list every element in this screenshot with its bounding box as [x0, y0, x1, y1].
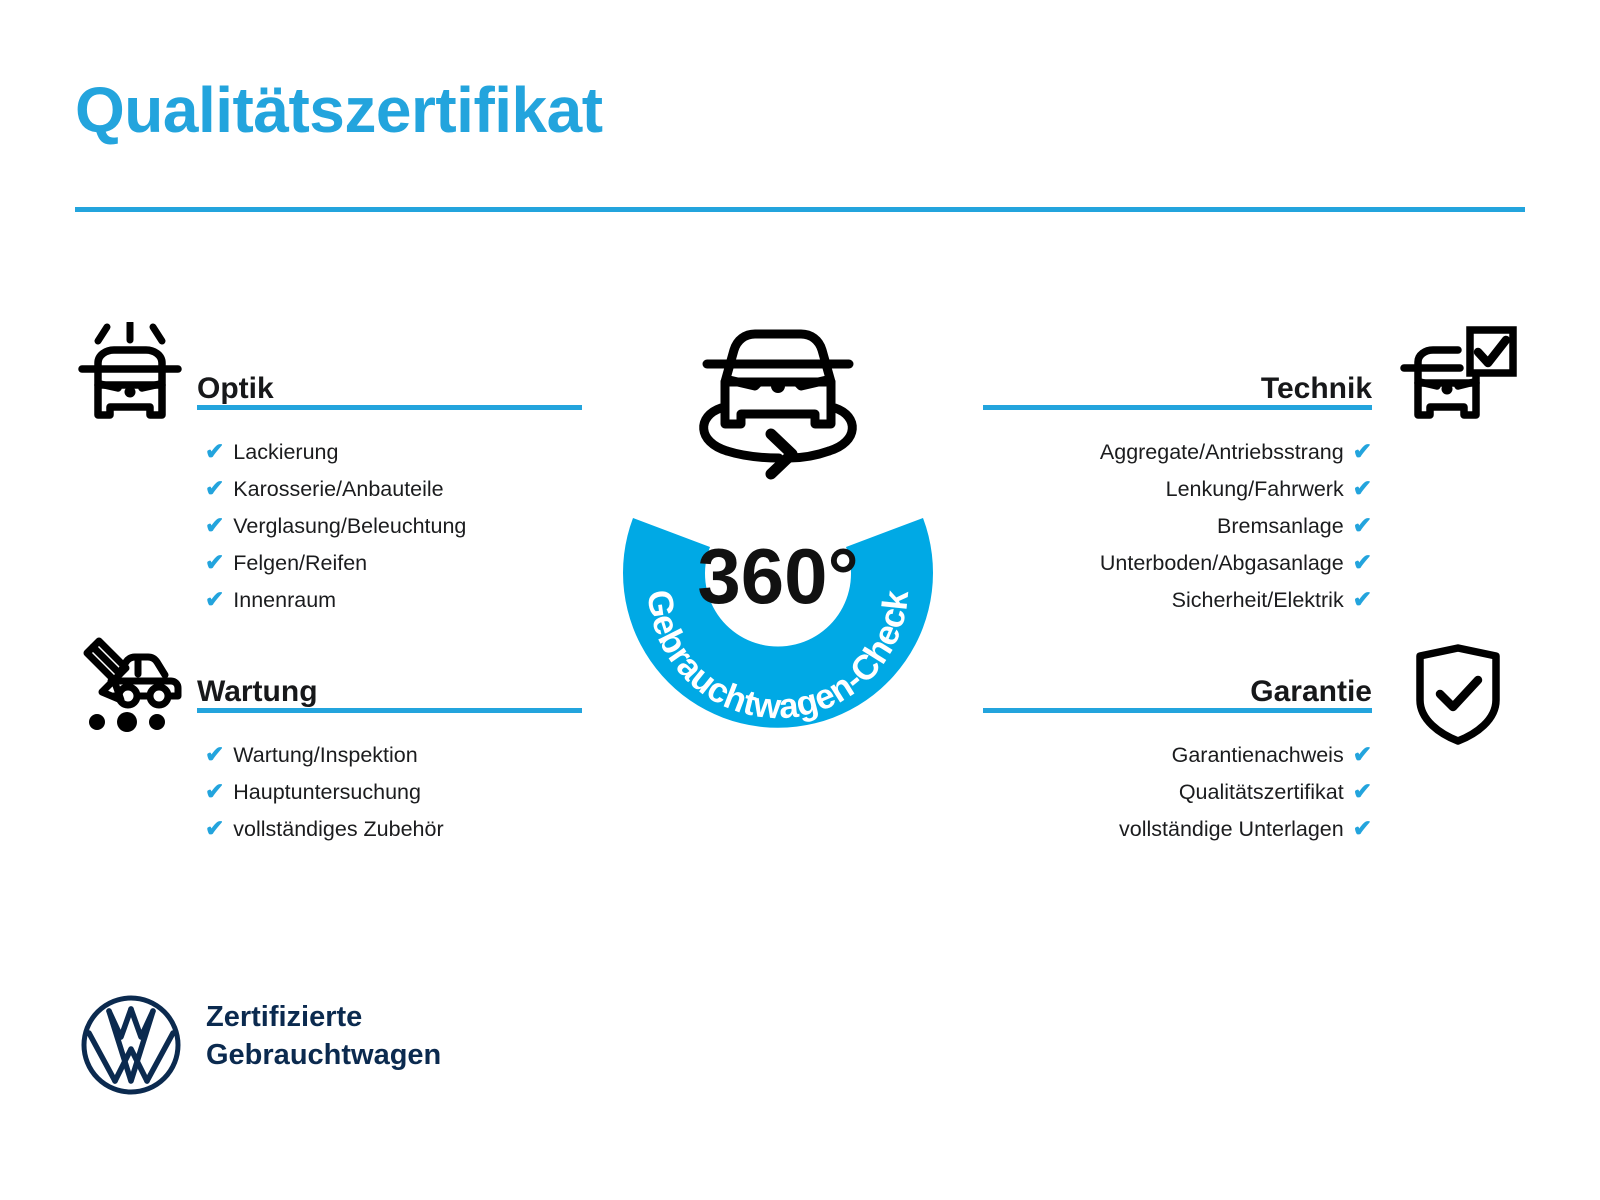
list-item-label: Hauptuntersuchung — [233, 774, 421, 811]
car-service-pencil-icon — [74, 634, 184, 734]
section-optik-list: ✔Lackierung ✔Karosserie/Anbauteile ✔Verg… — [205, 434, 466, 619]
section-wartung: Wartung ✔Wartung/Inspektion ✔Hauptunters… — [197, 665, 582, 713]
check-icon: ✔ — [205, 477, 224, 500]
section-wartung-header: Wartung — [197, 665, 582, 713]
list-item-label: Innenraum — [233, 582, 336, 619]
check-icon: ✔ — [1353, 514, 1372, 537]
footer-brand: Zertifizierte Gebrauchtwagen — [78, 990, 548, 1100]
check-icon: ✔ — [205, 514, 224, 537]
brand-text-line2: Gebrauchtwagen — [206, 1036, 441, 1074]
check-icon: ✔ — [205, 440, 224, 463]
list-item-label: vollständiges Zubehör — [233, 811, 443, 848]
check-icon: ✔ — [205, 743, 224, 766]
list-item: Garantienachweis✔ — [983, 737, 1372, 774]
list-item: ✔Hauptuntersuchung — [205, 774, 444, 811]
check-icon: ✔ — [1353, 817, 1372, 840]
list-item-label: Garantienachweis — [1172, 737, 1344, 774]
title-divider — [75, 207, 1525, 212]
check-icon: ✔ — [1353, 743, 1372, 766]
list-item: Bremsanlage✔ — [983, 508, 1372, 545]
section-technik-list: Aggregate/Antriebsstrang✔ Lenkung/Fahrwe… — [983, 434, 1372, 619]
list-item-label: Verglasung/Beleuchtung — [233, 508, 466, 545]
list-item: ✔Lackierung — [205, 434, 466, 471]
section-garantie-list: Garantienachweis✔ Qualitätszertifikat✔ v… — [983, 737, 1372, 848]
section-optik: Optik ✔Lackierung ✔Karosserie/Anbauteile… — [197, 362, 582, 410]
list-item: Lenkung/Fahrwerk✔ — [983, 471, 1372, 508]
list-item-label: Lenkung/Fahrwerk — [1166, 471, 1344, 508]
page-title: Qualitätszertifikat — [75, 78, 603, 142]
svg-text:360°: 360° — [697, 532, 858, 620]
section-garantie-header: Garantie — [983, 665, 1372, 713]
section-wartung-underline — [197, 708, 582, 713]
section-technik-underline — [983, 405, 1372, 410]
shield-check-icon — [1410, 642, 1506, 746]
certificate-page: Qualitätszertifikat Optik ✔La — [0, 0, 1600, 1200]
section-wartung-list: ✔Wartung/Inspektion ✔Hauptuntersuchung ✔… — [205, 737, 444, 848]
list-item: ✔Felgen/Reifen — [205, 545, 466, 582]
check-icon: ✔ — [1353, 477, 1372, 500]
brand-text-line1: Zertifizierte — [206, 998, 441, 1036]
section-garantie: Garantie Garantienachweis✔ Qualitätszert… — [983, 665, 1372, 713]
list-item-label: Unterboden/Abgasanlage — [1100, 545, 1344, 582]
badge-360-gebrauchtwagen-check: Gebrauchtwagen-Check 360° — [568, 308, 988, 758]
section-garantie-underline — [983, 708, 1372, 713]
list-item: ✔Innenraum — [205, 582, 466, 619]
list-item: Qualitätszertifikat✔ — [983, 774, 1372, 811]
list-item: ✔Wartung/Inspektion — [205, 737, 444, 774]
section-garantie-title: Garantie — [1250, 675, 1372, 709]
list-item-label: Wartung/Inspektion — [233, 737, 417, 774]
list-item: vollständige Unterlagen✔ — [983, 811, 1372, 848]
list-item-label: Bremsanlage — [1217, 508, 1344, 545]
list-item: Aggregate/Antriebsstrang✔ — [983, 434, 1372, 471]
check-icon: ✔ — [205, 817, 224, 840]
check-icon: ✔ — [205, 588, 224, 611]
car-front-shine-icon — [76, 322, 184, 427]
section-technik-header: Technik — [983, 362, 1372, 410]
section-optik-header: Optik — [197, 362, 582, 410]
list-item-label: Felgen/Reifen — [233, 545, 367, 582]
list-item: Unterboden/Abgasanlage✔ — [983, 545, 1372, 582]
list-item: Sicherheit/Elektrik✔ — [983, 582, 1372, 619]
brand-text: Zertifizierte Gebrauchtwagen — [206, 998, 441, 1074]
check-icon: ✔ — [1353, 780, 1372, 803]
volkswagen-logo — [78, 992, 184, 1098]
section-optik-title: Optik — [197, 372, 274, 406]
check-icon: ✔ — [1353, 440, 1372, 463]
list-item-label: Sicherheit/Elektrik — [1172, 582, 1344, 619]
check-icon: ✔ — [1353, 551, 1372, 574]
check-icon: ✔ — [205, 551, 224, 574]
check-icon: ✔ — [205, 780, 224, 803]
list-item: ✔vollständiges Zubehör — [205, 811, 444, 848]
section-technik: Technik Aggregate/Antriebsstrang✔ Lenkun… — [983, 362, 1372, 410]
list-item-label: vollständige Unterlagen — [1119, 811, 1344, 848]
list-item: ✔Karosserie/Anbauteile — [205, 471, 466, 508]
list-item-label: Lackierung — [233, 434, 338, 471]
list-item-label: Aggregate/Antriebsstrang — [1100, 434, 1344, 471]
list-item-label: Karosserie/Anbauteile — [233, 471, 443, 508]
section-wartung-title: Wartung — [197, 675, 318, 709]
car-front-checkbox-icon — [1398, 325, 1518, 425]
check-icon: ✔ — [1353, 588, 1372, 611]
section-technik-title: Technik — [1261, 372, 1372, 406]
list-item-label: Qualitätszertifikat — [1179, 774, 1344, 811]
list-item: ✔Verglasung/Beleuchtung — [205, 508, 466, 545]
section-optik-underline — [197, 405, 582, 410]
